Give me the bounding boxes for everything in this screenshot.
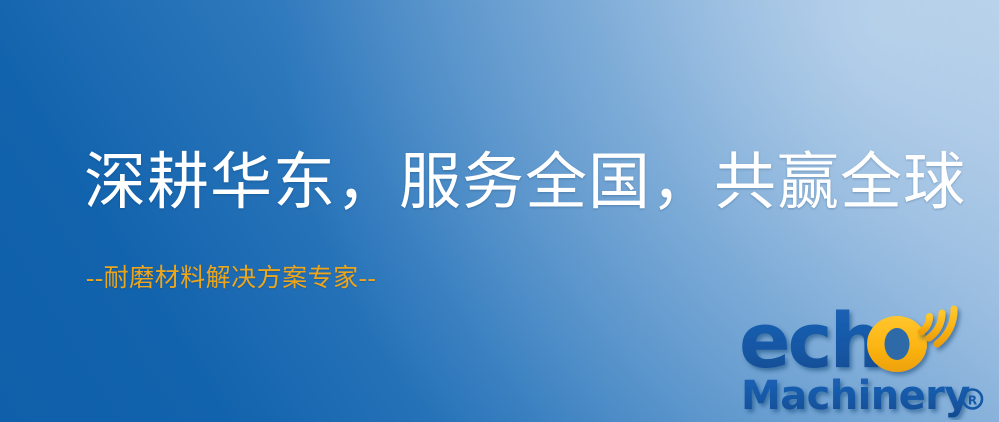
hero-banner: 深耕华东，服务全国，共赢全球 --耐磨材料解决方案专家-- xyxy=(0,0,999,422)
svg-text:ech: ech xyxy=(739,296,881,385)
echo-machinery-logo[interactable]: ech Machinery R xyxy=(733,288,995,420)
logo-wordmark-ech: ech xyxy=(739,296,881,385)
svg-text:R: R xyxy=(968,394,977,408)
page-subtitle: --耐磨材料解决方案专家-- xyxy=(86,266,376,291)
logo-wordmark-o xyxy=(867,316,927,372)
svg-text:Machinery: Machinery xyxy=(741,373,970,419)
signal-waves-icon xyxy=(921,309,954,344)
page-title: 深耕华东，服务全国，共赢全球 xyxy=(84,152,966,214)
logo-tagline: Machinery xyxy=(741,373,970,419)
